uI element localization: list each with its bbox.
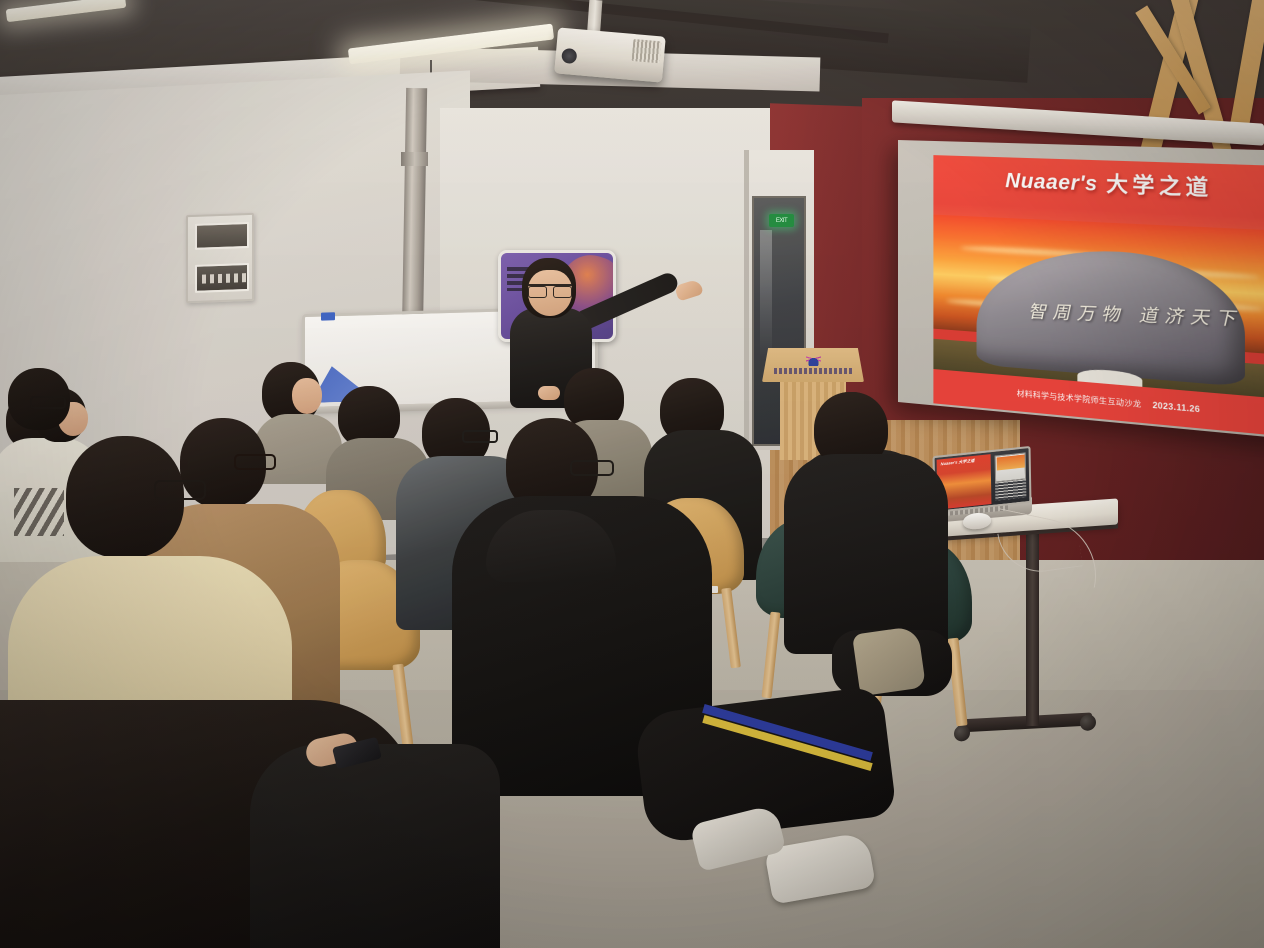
glasses-icon [570,460,614,476]
presenter-pointing-hand [674,278,704,301]
exit-sign: EXIT [769,214,794,227]
pipe-joint [401,152,428,166]
breaker-window-upper [195,222,249,250]
electrical-panel [186,213,254,303]
podium-nameplate [774,368,852,374]
presenter-hand-clicker [538,386,560,400]
laptop-slide-title: Nuaaer's 大学之道 [941,458,975,468]
laptop-thumb-image [997,455,1025,471]
slide-title-cn: 大学之道 [1106,173,1212,200]
rock-inscription: 智周万物 道济天下 [1027,297,1228,330]
audience-member [0,368,96,518]
glasses-icon [154,480,206,500]
presenter-glasses-icon [528,284,572,294]
laptop-presenter-notes [995,479,1026,500]
lecture-hall-photo: EXIT Nuaaer's大学之道 [0,0,1264,948]
slide-title-en: Nuaaer's [1005,170,1097,196]
breaker-window-lower [195,263,249,293]
breaker-switches-icon [202,273,246,284]
foreground-black-trousers [250,744,500,948]
whiteboard-magnet [321,312,335,320]
door-glass-reflection [760,230,772,360]
ceiling-pipe [402,88,427,338]
slide-footer-date: 2023.11.26 [1153,401,1201,415]
slide-footer-text: 材料科学与技术学院师生互动沙龙 [1017,388,1142,411]
ceiling-projector[interactable] [554,27,666,82]
audience-sneaker [852,626,926,697]
laptop-next-slide-thumb [995,452,1026,482]
projector-vent-icon [632,39,662,63]
university-emblem-icon [806,352,821,366]
projection-screen: Nuaaer's大学之道 智周万物 道济天下 材料科学与技术学院师生互动沙龙 [898,140,1264,440]
podium-top [762,348,864,382]
projection-screen-surface: Nuaaer's大学之道 智周万物 道济天下 材料科学与技术学院师生互动沙龙 [898,140,1264,440]
presentation-slide: Nuaaer's大学之道 智周万物 道济天下 材料科学与技术学院师生互动沙龙 [933,155,1264,437]
